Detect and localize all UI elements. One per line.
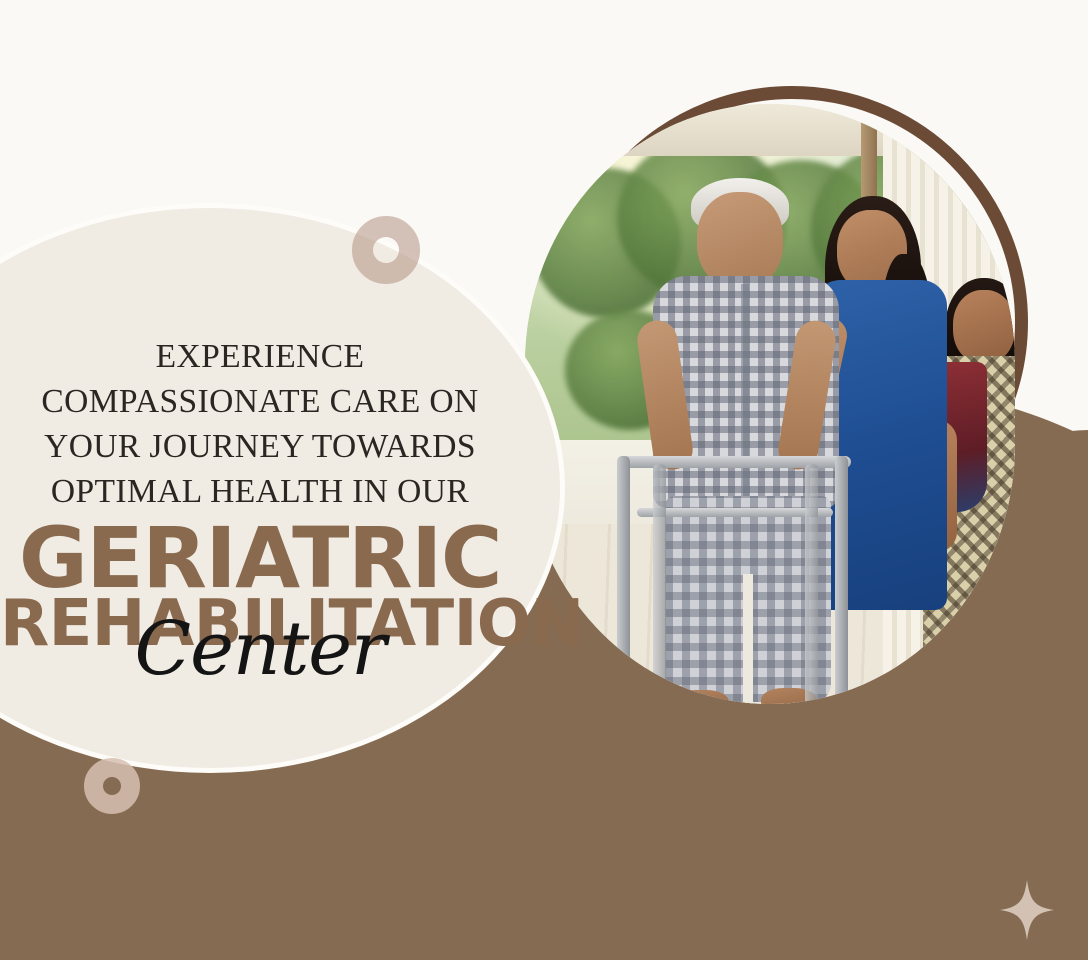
- poster-canvas: EXPERIENCE COMPASSIONATE CARE ON YOUR JO…: [0, 0, 1088, 960]
- walker-cross-bar: [637, 508, 833, 517]
- walker-leg: [805, 464, 818, 704]
- donut-ring-bottom: [84, 758, 140, 814]
- elderly-man-head: [697, 192, 783, 288]
- elderly-man-leg-gap: [743, 574, 753, 704]
- walker-leg: [835, 456, 848, 704]
- hero-photo: [525, 104, 1015, 704]
- tagline-line-3: YOUR JOURNEY TOWARDS: [0, 424, 520, 469]
- seated-woman-head: [953, 290, 1015, 364]
- walker-leg: [617, 456, 630, 704]
- tagline-line-2: COMPASSIONATE CARE ON: [0, 379, 520, 424]
- tagline-line-4: OPTIMAL HEALTH IN OUR: [0, 469, 520, 514]
- script-word-center: Center: [0, 612, 520, 686]
- donut-ring-top: [352, 216, 420, 284]
- sparkle-icon: [1000, 880, 1054, 940]
- hero-photo-scene: [525, 104, 1015, 704]
- walker-leg: [653, 464, 666, 704]
- tagline: EXPERIENCE COMPASSIONATE CARE ON YOUR JO…: [0, 334, 520, 514]
- elderly-man-foot: [673, 690, 729, 704]
- tagline-line-1: EXPERIENCE: [0, 334, 520, 379]
